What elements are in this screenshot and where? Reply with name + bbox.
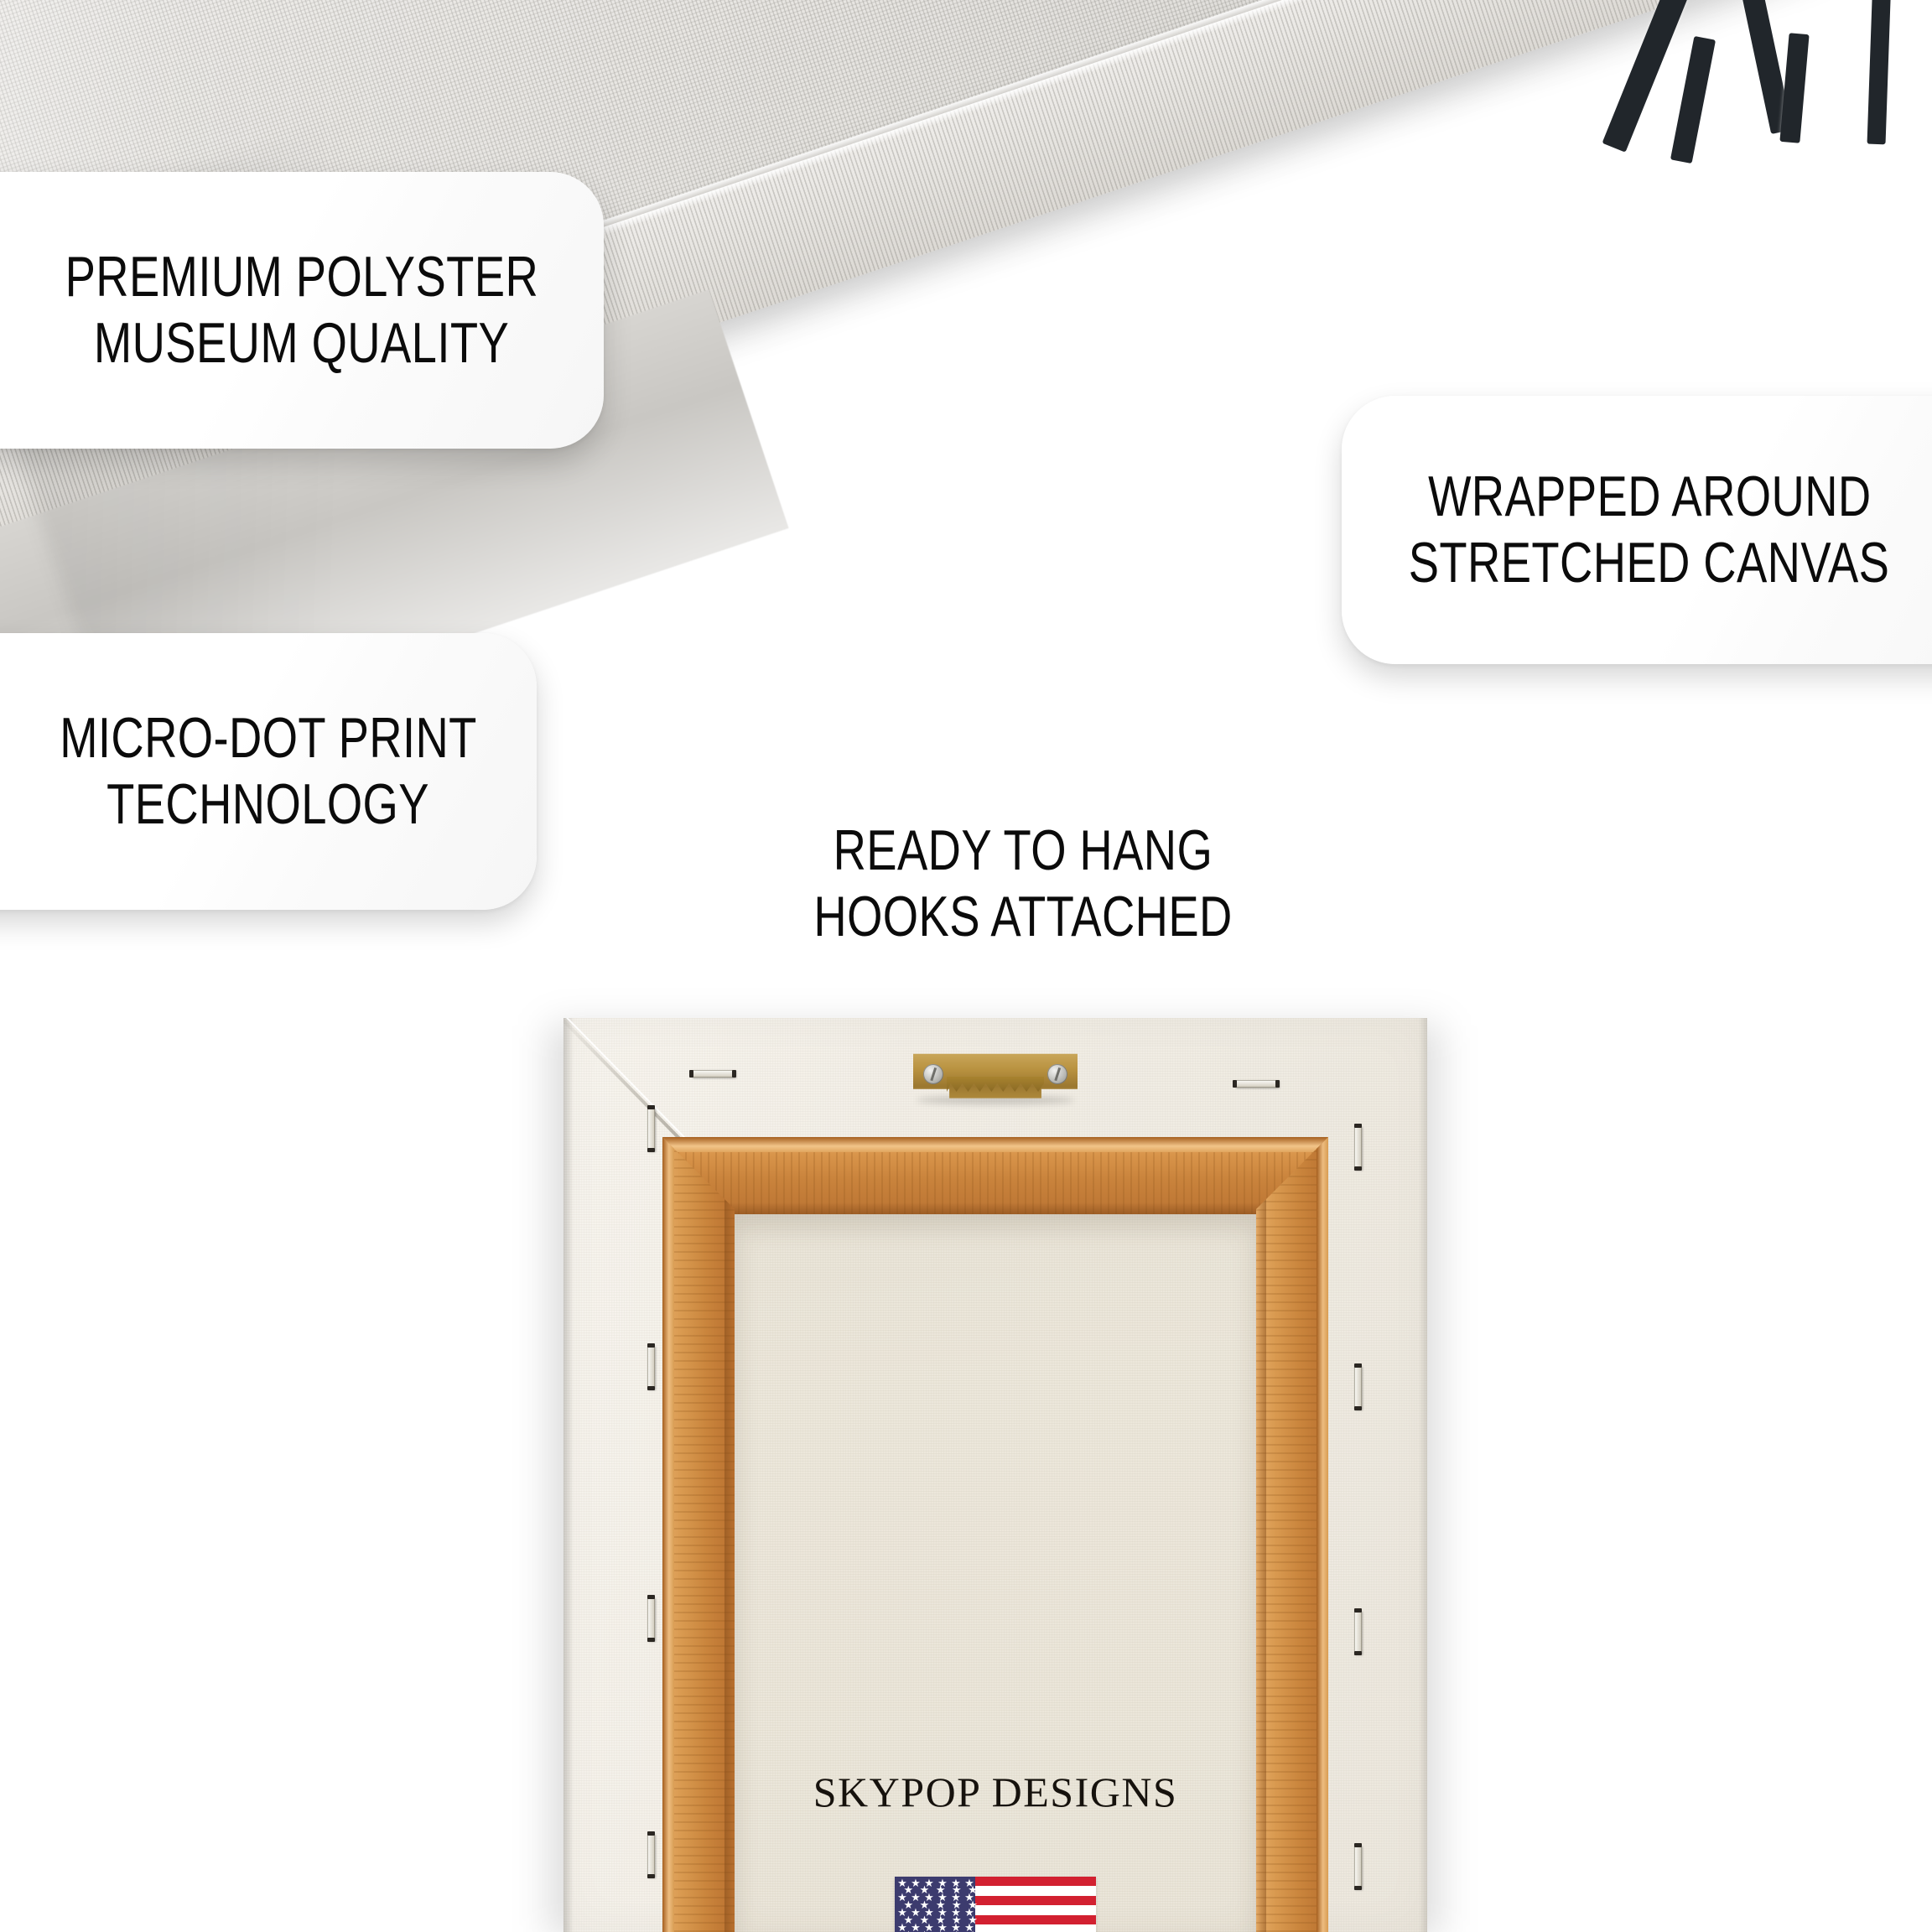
- stretcher-inner-lip: [1256, 1196, 1266, 1932]
- canvas-recess-area: SKYPOP DESIGNS ★★★★★★★★★★★★★★★★★★★★★★★★★…: [735, 1214, 1256, 1932]
- canvas-staple: [1354, 1125, 1362, 1169]
- hanger-screw-icon: [1047, 1064, 1067, 1084]
- callout-wrapped-around: WRAPPED AROUND STRETCHED CANVAS: [1342, 396, 1932, 664]
- flag-star-icon: ★: [920, 1929, 930, 1932]
- canvas-staple: [647, 1833, 655, 1877]
- sawtooth-hanger: [913, 1050, 1078, 1100]
- callout-ready-to-hang: READY TO HANG HOOKS ATTACHED: [696, 818, 1350, 950]
- canvas-staple: [647, 1107, 655, 1150]
- canvas-backing-panel: SKYPOP DESIGNS ★★★★★★★★★★★★★★★★★★★★★★★★★…: [563, 1018, 1427, 1932]
- canvas-recess-grain: [735, 1214, 1256, 1932]
- artwork-brush-stroke-icon: [1779, 33, 1809, 143]
- callout-line-2: TECHNOLOGY: [107, 771, 430, 838]
- stretcher-bar-right: [1256, 1137, 1328, 1932]
- callout-line-2: STRETCHED CANVAS: [1409, 530, 1890, 596]
- callout-premium-polyster: PREMIUM POLYSTER MUSEUM QUALITY: [0, 172, 604, 449]
- us-flag-icon: ★★★★★★★★★★★★★★★★★★★★★★★★★★★★★★★★★★★★★★★★…: [895, 1877, 1096, 1932]
- stretcher-inner-lip: [721, 1202, 1270, 1214]
- callout-line-1: PREMIUM POLYSTER: [65, 244, 539, 310]
- infographic-stage: PREMIUM POLYSTER MUSEUM QUALITY MICRO-DO…: [0, 0, 1932, 1932]
- artwork-brush-stroke-icon: [1670, 36, 1716, 164]
- stretcher-bar-top: [662, 1137, 1328, 1214]
- flag-star-icon: ★: [936, 1929, 946, 1932]
- callout-line-1: MICRO-DOT PRINT: [60, 705, 477, 771]
- canvas-staple: [1234, 1080, 1278, 1088]
- canvas-staple: [647, 1345, 655, 1389]
- callout-line-1: READY TO HANG: [834, 818, 1213, 884]
- stretched-canvas-back: SKYPOP DESIGNS ★★★★★★★★★★★★★★★★★★★★★★★★★…: [563, 1018, 1427, 1932]
- callout-line-2: HOOKS ATTACHED: [813, 884, 1232, 950]
- flag-star-icon: ★: [952, 1929, 962, 1932]
- artwork-brush-stroke-icon: [1867, 0, 1892, 144]
- canvas-staple: [1354, 1610, 1362, 1654]
- canvas-staple: [1354, 1845, 1362, 1888]
- canvas-staple: [691, 1070, 735, 1078]
- callout-line-1: WRAPPED AROUND: [1428, 464, 1872, 530]
- flag-star-icon: ★: [903, 1929, 913, 1932]
- stretcher-bevel: [662, 1137, 1328, 1152]
- callout-line-2: MUSEUM QUALITY: [94, 310, 509, 377]
- canvas-left-edge-shade: [563, 1018, 574, 1932]
- flag-star-row: ★★★★★: [895, 1929, 986, 1932]
- flag-star-icon: ★: [968, 1929, 978, 1932]
- callout-micro-dot-print: MICRO-DOT PRINT TECHNOLOGY: [0, 633, 537, 910]
- canvas-right-edge-shade: [1419, 1018, 1427, 1932]
- brand-name: SKYPOP DESIGNS: [735, 1768, 1256, 1816]
- flag-canton: ★★★★★★★★★★★★★★★★★★★★★★★★★★★★★★★★★★★★★★★★…: [895, 1877, 975, 1932]
- hanger-screw-icon: [923, 1064, 943, 1084]
- canvas-staple: [647, 1597, 655, 1640]
- stretcher-bevel: [1317, 1137, 1328, 1932]
- stretcher-bevel: [662, 1137, 674, 1932]
- stretcher-inner-lip: [724, 1196, 735, 1932]
- stretcher-bar-left: [662, 1137, 735, 1932]
- canvas-staple: [1354, 1365, 1362, 1409]
